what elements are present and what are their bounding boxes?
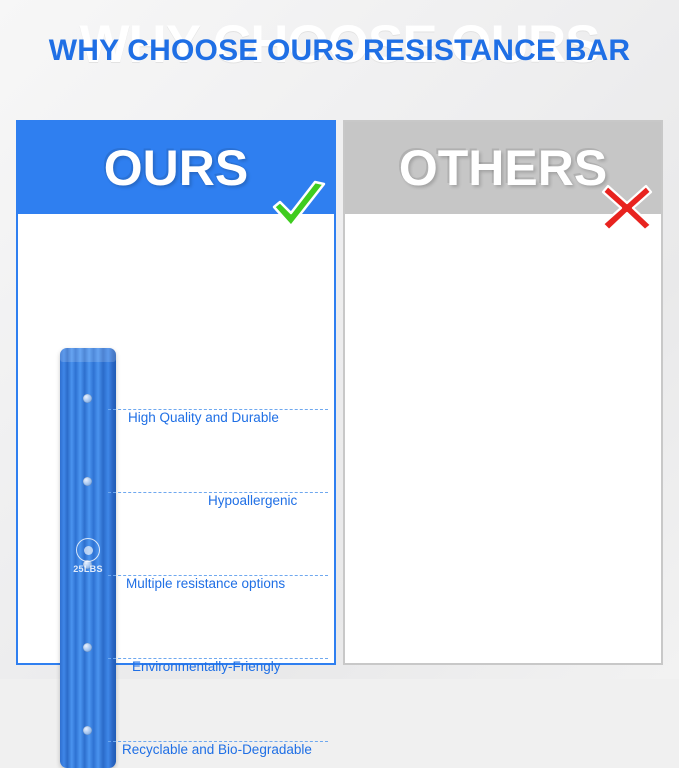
- bar-dot: [83, 643, 92, 652]
- panel-others: OTHERS Poor Quality and weak Potentially…: [343, 120, 663, 665]
- feature-label: Environmentally-Friengly: [132, 659, 281, 674]
- feature-label: Hypoallergenic: [208, 493, 297, 508]
- feature-row: Hypoallergenic: [108, 485, 328, 501]
- bar-dot: [83, 726, 92, 735]
- bar-dot: [83, 477, 92, 486]
- feature-row: Recyclable and Bio-Degradable: [108, 734, 328, 750]
- bar-dot: [83, 394, 92, 403]
- comparison-infographic: WHY CHOOSE OURS WHY CHOOSE OURS RESISTAN…: [0, 0, 679, 679]
- header: WHY CHOOSE OURS WHY CHOOSE OURS RESISTAN…: [0, 8, 679, 88]
- brand-ring-icon: [76, 538, 100, 562]
- feature-row: Multiple resistance options: [108, 568, 328, 584]
- feature-row: Environmentally-Friengly: [108, 651, 328, 667]
- brand-badge: 25LBS: [72, 538, 104, 590]
- panel-ours: OURS 25LBS High Quality and Durable: [16, 120, 336, 665]
- bar-weight-label: 25LBS: [72, 565, 104, 575]
- check-icon: [270, 180, 328, 232]
- feature-label: Recyclable and Bio-Degradable: [122, 742, 312, 757]
- page-title: WHY CHOOSE OURS RESISTANCE BAR: [49, 34, 631, 68]
- feature-label: High Quality and Durable: [128, 410, 279, 425]
- feature-label: Multiple resistance options: [126, 576, 285, 591]
- bar-top-cap: [60, 348, 116, 362]
- cross-icon: [601, 184, 653, 232]
- feature-row: High Quality and Durable: [108, 402, 328, 418]
